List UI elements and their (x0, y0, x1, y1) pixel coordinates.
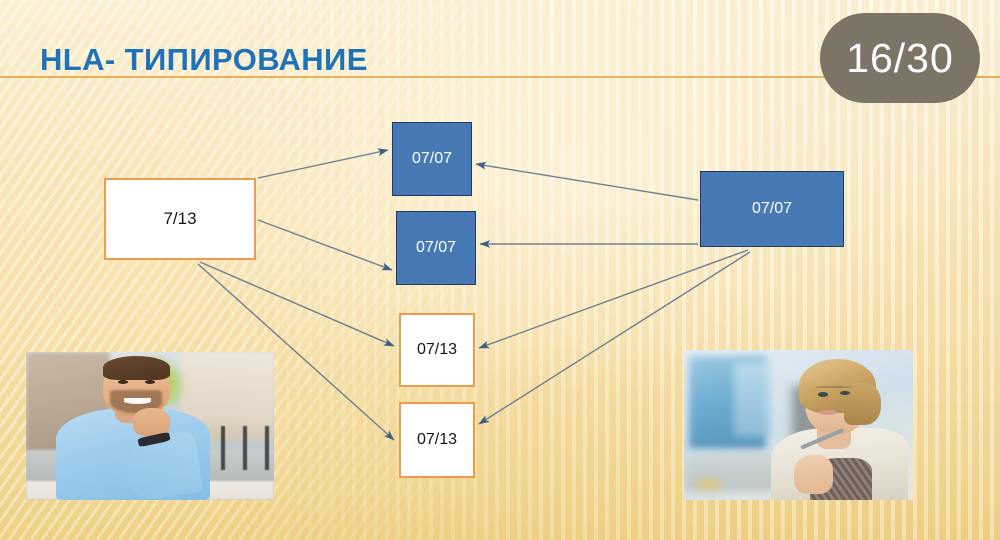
haplotype-node-right-label: 07/07 (752, 200, 792, 218)
haplotype-node-blue-1-label: 07/07 (412, 150, 452, 168)
photo-woman-hand (794, 455, 833, 494)
photo-man-eye-right (145, 380, 155, 384)
haplotype-node-left[interactable]: 7/13 (104, 178, 256, 260)
haplotype-node-right[interactable]: 07/07 (700, 171, 844, 247)
photo-man-hair (103, 356, 170, 380)
page-number-badge: 16/30 (820, 13, 980, 103)
photo-man (26, 352, 274, 500)
haplotype-node-blue-2-label: 07/07 (416, 239, 456, 257)
photo-woman-hair-back (844, 383, 881, 425)
slide-canvas: HLA- ТИПИРОВАНИЕ 16/30 (0, 0, 1000, 540)
haplotype-node-left-label: 7/13 (163, 209, 196, 229)
haplotype-node-white-1-label: 07/13 (417, 341, 457, 359)
haplotype-node-white-2-label: 07/13 (417, 431, 457, 449)
page-title: HLA- ТИПИРОВАНИЕ (40, 42, 368, 78)
photo-woman-lips (819, 410, 837, 415)
photo-man-eye-left (118, 380, 128, 384)
haplotype-node-blue-2[interactable]: 07/07 (396, 211, 476, 285)
photo-woman-window-second (734, 362, 771, 437)
photo-woman-amber-light (691, 475, 728, 495)
photo-woman-eye-right (840, 391, 850, 396)
photo-man-smile (124, 398, 151, 404)
haplotype-node-blue-1[interactable]: 07/07 (392, 122, 472, 196)
haplotype-node-white-1[interactable]: 07/13 (399, 313, 475, 387)
photo-woman-eye-left (818, 392, 828, 397)
haplotype-node-white-2[interactable]: 07/13 (399, 402, 475, 478)
page-number-badge-label: 16/30 (846, 35, 954, 82)
photo-woman (684, 350, 913, 500)
